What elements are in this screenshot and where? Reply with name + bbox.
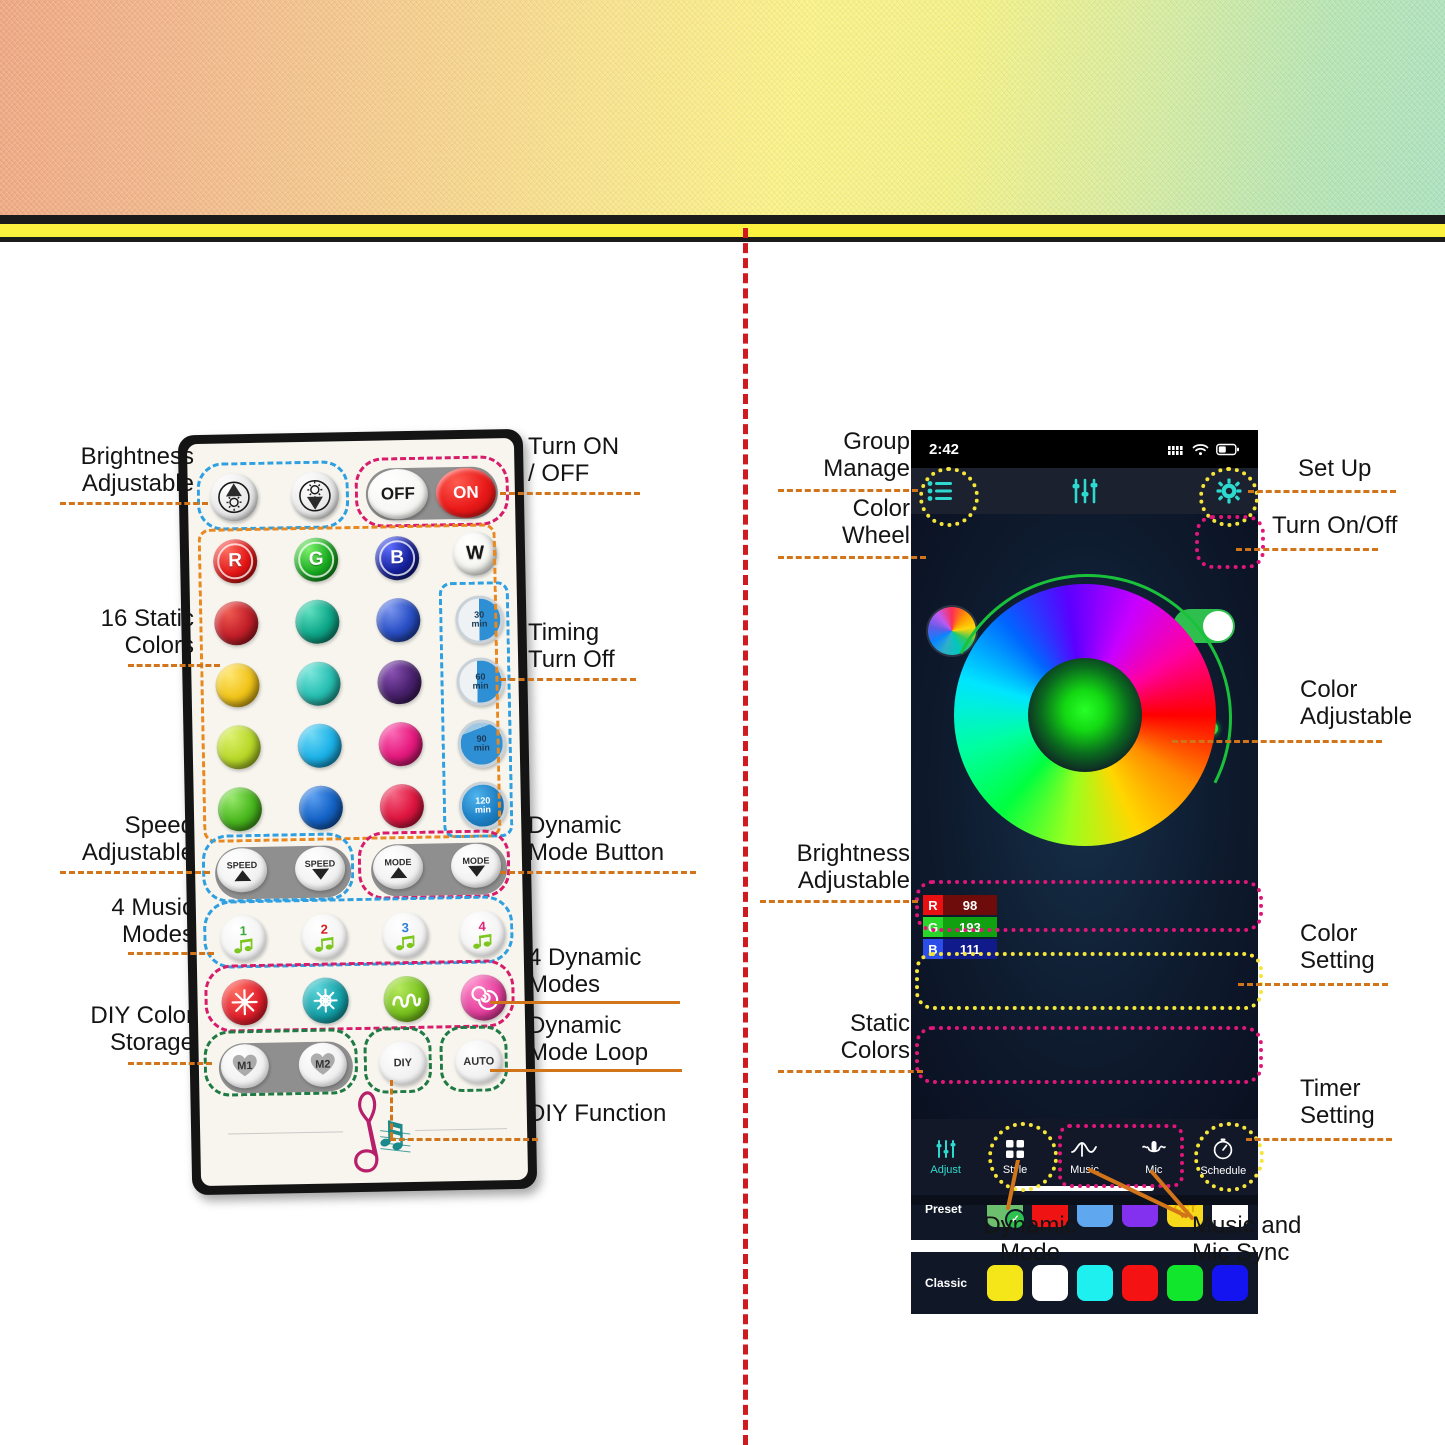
static-color-swatch[interactable] (214, 601, 259, 646)
leader-diy-function (390, 1138, 538, 1141)
phone-app: 2:42 (911, 430, 1258, 1205)
color-wheel-center (1028, 658, 1142, 772)
leader-brightness-adjustable (60, 502, 208, 505)
classic-swatch-cyan[interactable] (1077, 1265, 1113, 1301)
classic-swatch-white[interactable] (1032, 1265, 1068, 1301)
label-app-static-colors: Static Colors (760, 1010, 910, 1064)
mode-down-label: MODE (462, 855, 489, 866)
leader-timing-turn-off (500, 678, 636, 681)
static-color-swatch[interactable] (298, 785, 343, 830)
timer-icon (1212, 1138, 1234, 1160)
brightness-down-button[interactable] (290, 471, 339, 520)
memory-m1-label: M1 (237, 1060, 253, 1072)
leader-color-wheel (778, 556, 926, 559)
label-dynamic-mode-button: Dynamic Mode Button (528, 812, 664, 866)
treble-clef-icon (341, 1090, 415, 1175)
timer-120-unit: min (475, 805, 491, 814)
classic-swatch-yellow[interactable] (987, 1265, 1023, 1301)
music-mode-button-3[interactable]: 3 (382, 912, 429, 959)
header-divider-yellow (0, 224, 1445, 237)
leader-4-dynamic-modes (490, 1001, 680, 1004)
speed-down-label: SPEED (305, 858, 336, 869)
music-wave-icon (1071, 1139, 1097, 1159)
rgb-row-r: R 98 (923, 895, 997, 915)
classic-swatch-green[interactable] (1167, 1265, 1203, 1301)
music-note-icon (314, 936, 334, 952)
leader-color-adjustable (1172, 740, 1382, 743)
static-color-swatch[interactable] (297, 723, 342, 768)
rgb-r-value: 98 (943, 895, 997, 915)
music-mode-4-number: 4 (478, 918, 486, 933)
leader-set-up (1248, 490, 1396, 493)
label-brightness-adjustable: Brightness Adjustable (4, 443, 194, 497)
music-mode-button-2[interactable]: 2 (301, 913, 348, 960)
leader-app-static-colors (778, 1070, 923, 1073)
music-mode-button-4[interactable]: 4 (459, 910, 506, 957)
dynamic-mode-button-strobe[interactable] (302, 977, 349, 1024)
classic-swatch-blue[interactable] (1212, 1265, 1248, 1301)
static-color-swatch[interactable] (378, 722, 423, 767)
timer-60-unit: min (473, 681, 489, 690)
triangle-down-icon (312, 868, 329, 879)
label-4-music-modes: 4 Music Modes (4, 894, 194, 948)
color-wheel[interactable] (954, 584, 1216, 846)
label-group-manage: Group Manage (760, 428, 910, 482)
speed-up-label: SPEED (227, 859, 258, 870)
snowflake-icon (310, 985, 341, 1016)
dynamic-mode-button-smooth[interactable] (460, 974, 507, 1021)
leader-turn-on-off (500, 492, 640, 495)
music-mode-button-1[interactable]: 1 (220, 915, 267, 962)
leader-color-setting (1238, 983, 1388, 986)
mic-icon (1142, 1139, 1166, 1159)
classic-swatches (987, 1265, 1248, 1301)
mode-up-label: MODE (384, 856, 411, 867)
leader-group-manage (778, 489, 918, 492)
header-divider-dark2 (0, 237, 1445, 242)
timer-button-90min[interactable]: 90 min (457, 719, 506, 768)
rgb-g-label: G (923, 917, 943, 937)
label-app-turn-on-off: Turn On/Off (1272, 512, 1397, 539)
phone-status-bar: 2:42 (911, 430, 1258, 468)
color-button-b[interactable]: B (375, 536, 420, 581)
classic-swatch-red[interactable] (1122, 1265, 1158, 1301)
static-color-swatch[interactable] (295, 599, 340, 644)
diy-button[interactable]: DIY (378, 1041, 427, 1086)
music-note-icon (395, 934, 415, 950)
rgb-row-g: G 193 (923, 917, 997, 937)
color-button-w[interactable]: W (453, 531, 498, 576)
memory-m2-label: M2 (315, 1059, 331, 1071)
leader-diy-color-storage (128, 1062, 212, 1065)
leader-dynamic-mode-button (500, 871, 696, 874)
wave-icon (390, 987, 422, 1012)
label-dynamic-mode-loop: Dynamic Mode Loop (528, 1012, 648, 1066)
bottom-leader-lines (900, 1160, 1300, 1240)
label-speed-adjustable: Speed Adjustable (4, 812, 194, 866)
static-color-swatch[interactable] (215, 663, 260, 708)
label-app-brightness: Brightness Adjustable (752, 840, 910, 894)
label-turn-on-off: Turn ON / OFF (528, 433, 619, 487)
rgb-b-label: B (923, 939, 943, 959)
triangle-down-icon (468, 865, 485, 876)
music-mode-3-number: 3 (401, 920, 409, 935)
triangle-up-icon (234, 870, 251, 881)
label-timer-setting: Timer Setting (1300, 1075, 1375, 1129)
phone-top-bar (911, 468, 1258, 514)
label-diy-function: DIY Function (528, 1100, 666, 1127)
leader-app-brightness (760, 900, 918, 903)
battery-icon (1216, 443, 1240, 456)
grid-icon (1005, 1139, 1025, 1159)
static-color-swatch[interactable] (216, 725, 261, 770)
decoration-line-right (415, 1128, 507, 1131)
label-color-setting: Color Setting (1300, 920, 1375, 974)
auto-label: AUTO (463, 1055, 494, 1068)
rgb-r-label: R (923, 895, 943, 915)
timer-90-unit: min (474, 743, 490, 752)
static-color-swatch[interactable] (218, 787, 263, 832)
signal-icon (1168, 443, 1185, 456)
label-16-static-colors: 16 Static Colors (4, 605, 194, 659)
list-menu-icon[interactable] (927, 480, 953, 502)
leader-app-turn-on-off (1236, 548, 1378, 551)
leader-speed-adjustable (60, 871, 210, 874)
leader-4-music-modes (128, 952, 214, 955)
burst-icon (229, 987, 260, 1018)
classic-label: Classic (925, 1276, 987, 1290)
timer-30-unit: min (471, 619, 487, 628)
leader-dynamic-mode-loop (490, 1069, 682, 1072)
rgb-row-b: B 111 (923, 939, 997, 959)
brightness-down-icon (298, 478, 333, 513)
rgb-g-value: 193 (943, 917, 997, 937)
status-time: 2:42 (929, 441, 959, 458)
static-color-swatch[interactable] (379, 784, 424, 829)
color-button-g[interactable]: G (294, 537, 339, 582)
leader-16-static-colors (128, 664, 220, 667)
triangle-up-icon (390, 867, 407, 878)
color-wheel-stage: R 98 G 193 B 111 (911, 514, 1258, 1122)
timer-button-30min[interactable]: 30 min (455, 595, 504, 644)
brightness-up-icon (217, 480, 252, 515)
sliders-icon[interactable] (1070, 478, 1100, 504)
leader-timer-setting (1246, 1138, 1392, 1141)
sliders-icon (935, 1139, 957, 1159)
timer-button-60min[interactable]: 60 min (456, 657, 505, 706)
diy-label: DIY (394, 1057, 413, 1069)
timer-button-120min[interactable]: 120 min (458, 781, 507, 830)
label-diy-color-storage: DIY Color Storage (4, 1002, 194, 1056)
label-color-wheel: Color Wheel (760, 495, 910, 549)
static-color-swatch[interactable] (376, 598, 421, 643)
static-color-swatch[interactable] (377, 660, 422, 705)
label-color-adjustable: Color Adjustable (1300, 676, 1412, 730)
static-color-swatch[interactable] (296, 661, 341, 706)
music-mode-2-number: 2 (320, 921, 328, 936)
dynamic-mode-button-flash[interactable] (221, 979, 268, 1026)
auto-button[interactable]: AUTO (454, 1039, 503, 1084)
on-label: ON (453, 483, 479, 503)
dynamic-mode-button-fade[interactable] (383, 976, 430, 1023)
decoration-line-left (228, 1131, 343, 1134)
gear-icon[interactable] (1216, 478, 1242, 504)
label-timing-turn-off: Timing Turn Off (528, 619, 615, 673)
off-label: OFF (381, 484, 415, 505)
music-mode-1-number: 1 (239, 923, 247, 938)
leader-diy-function-vertical (390, 1080, 393, 1138)
section-divider (743, 228, 748, 1445)
header-divider-dark (0, 215, 1445, 224)
remote-face: OFF ON R G B W 30 (187, 438, 528, 1186)
rgb-b-value: 111 (943, 939, 997, 959)
brightness-up-button[interactable] (209, 473, 258, 522)
spiral-icon (468, 982, 499, 1013)
color-button-r[interactable]: R (213, 539, 258, 584)
music-note-icon (233, 938, 253, 954)
label-set-up: Set Up (1298, 455, 1371, 482)
remote-control: OFF ON R G B W 30 (178, 429, 538, 1195)
label-4-dynamic-modes: 4 Dynamic Modes (528, 944, 641, 998)
header-banner (0, 0, 1445, 215)
music-note-icon (472, 933, 492, 949)
wifi-icon (1192, 443, 1209, 456)
